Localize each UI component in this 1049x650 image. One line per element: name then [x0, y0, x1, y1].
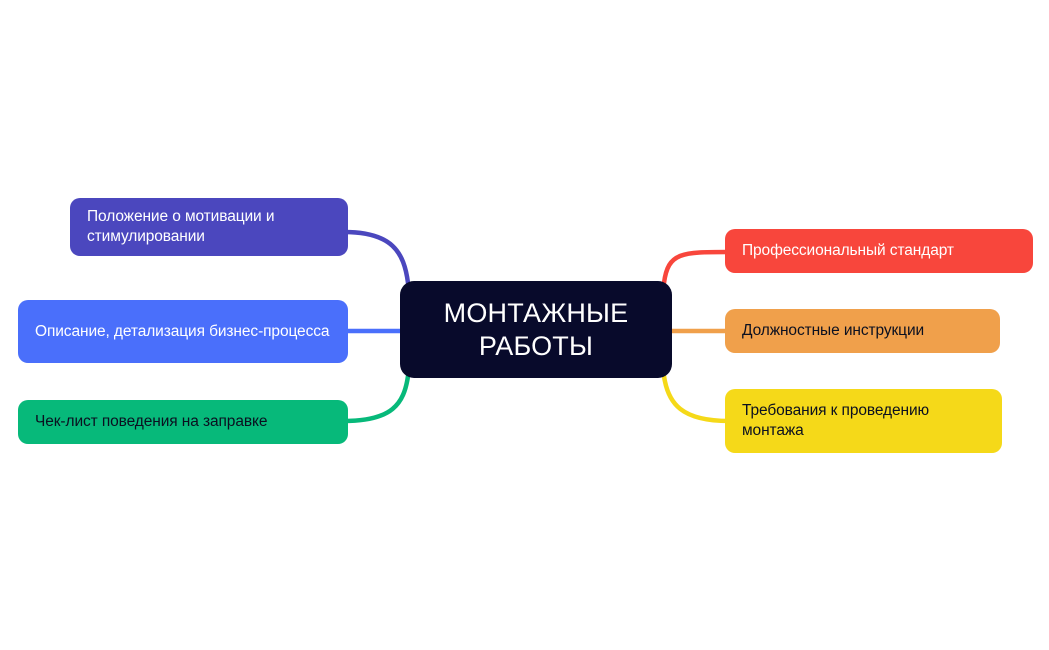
branch-node-motivation[interactable]: Положение о мотивации и стимулировании — [70, 198, 348, 256]
branch-node-business-process[interactable]: Описание, детализация бизнес-процесса — [18, 300, 348, 363]
connector-motivation — [344, 232, 408, 283]
branch-node-install-requirements-label: Требования к проведению монтажа — [742, 401, 985, 441]
mind-map-canvas: МОНТАЖНЫЕ РАБОТЫ Положение о мотивации и… — [0, 0, 1049, 650]
branch-node-prof-standard-label: Профессиональный стандарт — [742, 241, 1016, 261]
branch-node-job-instructions[interactable]: Должностные инструкции — [725, 309, 1000, 353]
central-node[interactable]: МОНТАЖНЫЕ РАБОТЫ — [400, 281, 672, 378]
connector-prof-standard — [664, 252, 729, 283]
connector-checklist — [344, 376, 408, 421]
central-node-label: МОНТАЖНЫЕ РАБОТЫ — [400, 297, 672, 363]
branch-node-install-requirements[interactable]: Требования к проведению монтажа — [725, 389, 1002, 453]
branch-node-motivation-label: Положение о мотивации и стимулировании — [87, 207, 331, 247]
branch-node-job-instructions-label: Должностные инструкции — [742, 321, 983, 341]
branch-node-business-process-label: Описание, детализация бизнес-процесса — [35, 322, 331, 342]
branch-node-checklist[interactable]: Чек-лист поведения на заправке — [18, 400, 348, 444]
branch-node-checklist-label: Чек-лист поведения на заправке — [35, 412, 331, 432]
branch-node-prof-standard[interactable]: Профессиональный стандарт — [725, 229, 1033, 273]
connector-install-requirements — [664, 376, 729, 421]
